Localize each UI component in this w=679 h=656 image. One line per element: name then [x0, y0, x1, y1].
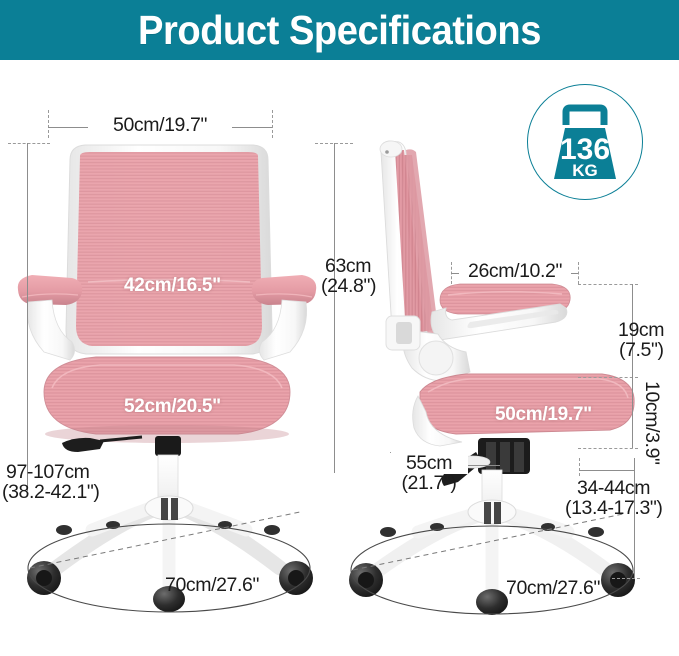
- tick-armrest-height-bot: [578, 377, 638, 378]
- tick-armrest-height-top: [578, 284, 638, 285]
- dim-seat-depth: 50cm/19.7": [495, 404, 592, 425]
- tick-backrest-left: [48, 110, 49, 138]
- tick-backrest-right: [272, 110, 273, 138]
- diameter-guide-side: [353, 514, 623, 570]
- dim-armrest-height: 19cm: [618, 320, 664, 341]
- dim-seat-front-depth: 55cm: [390, 453, 468, 474]
- dim-seat-height-inch: (13.4-17.3"): [565, 498, 663, 519]
- dim-backrest-inner: 42cm/16.5": [124, 275, 221, 296]
- dim-seat-height: 34-44cm: [577, 478, 650, 499]
- dim-backrest-width: 50cm/19.7": [88, 115, 232, 136]
- tick-height-top: [8, 143, 50, 144]
- diameter-guide-front: [30, 512, 300, 568]
- dim-backrest-height-inch: (24.8"): [321, 276, 376, 297]
- dim-seat-thickness: 10cm/3.9": [641, 381, 662, 465]
- dim-armrest-depth: 26cm/10.2": [459, 261, 571, 282]
- header-bar: Product Specifications: [0, 0, 679, 60]
- page-title: Product Specifications: [24, 0, 655, 60]
- dim-total-height: 97-107cm: [6, 462, 90, 483]
- weight-unit: KG: [572, 161, 598, 180]
- dim-total-height-inch: (38.2-42.1"): [2, 482, 100, 503]
- side-view-chair: [349, 141, 635, 615]
- dimline-seat-height: [579, 470, 635, 471]
- tick-armrest-right: [578, 262, 579, 284]
- tick-seat-height-bottom: [612, 578, 640, 579]
- dimline-total-height: [27, 143, 28, 491]
- tick-seat-thickness-bot: [578, 448, 638, 449]
- weight-capacity-badge: 136 KG: [527, 84, 643, 200]
- tick-seat-height-left: [579, 458, 580, 476]
- dim-backrest-height: 63cm: [325, 256, 371, 277]
- dim-seat-front-depth-inch: (21.7"): [386, 473, 472, 494]
- weight-icon: 136 KG: [540, 99, 630, 185]
- dim-armrest-height-inch: (7.5"): [619, 340, 664, 361]
- dim-seat-width: 52cm/20.5": [124, 396, 221, 417]
- dim-base-diameter-front: 70cm/27.6": [165, 575, 259, 596]
- dimline-seat-thickness: [632, 377, 633, 448]
- product-specifications-image: Product Specifications 136 KG: [0, 0, 679, 656]
- front-view-chair: [18, 145, 316, 612]
- dim-base-diameter-side: 70cm/27.6": [506, 578, 600, 599]
- dimline-backrest-height: [334, 143, 335, 473]
